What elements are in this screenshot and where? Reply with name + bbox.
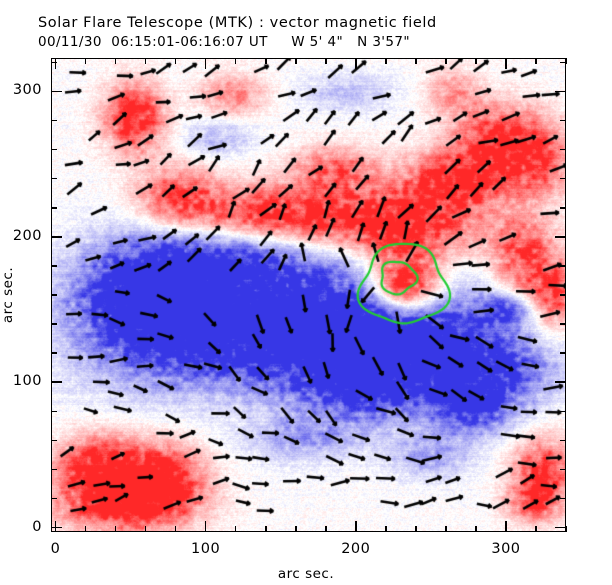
x-tick	[325, 526, 327, 532]
y-tick	[51, 498, 57, 500]
x-tick	[175, 526, 177, 532]
y-tick-right	[560, 62, 566, 64]
x-tick-label: 300	[484, 541, 528, 557]
y-tick-right	[560, 352, 566, 354]
figure-title: Solar Flare Telescope (MTK) : vector mag…	[38, 14, 578, 33]
y-tick	[51, 62, 57, 64]
y-tick-right	[560, 440, 566, 442]
x-tick-label: 200	[334, 541, 378, 557]
y-tick-right	[555, 91, 566, 93]
y-tick-right	[560, 120, 566, 122]
x-tick-top	[205, 58, 207, 69]
y-tick	[51, 440, 57, 442]
figure-subtitle: 00/11/30 06:15:01-06:16:07 UT W 5' 4" N …	[38, 33, 578, 52]
y-tick-right	[560, 498, 566, 500]
x-tick-top	[235, 58, 237, 64]
x-tick-top	[295, 58, 297, 64]
x-tick-top	[115, 58, 117, 64]
y-tick-label: 100	[0, 373, 42, 389]
y-tick-right	[560, 469, 566, 471]
y-tick	[51, 265, 57, 267]
y-tick	[51, 120, 57, 122]
y-tick	[51, 323, 57, 325]
x-tick-top	[445, 58, 447, 64]
x-tick-label: 100	[184, 541, 228, 557]
y-tick	[51, 294, 57, 296]
y-tick-right	[560, 207, 566, 209]
x-tick	[385, 526, 387, 532]
x-tick	[235, 526, 237, 532]
x-tick	[445, 526, 447, 532]
x-tick-top	[355, 58, 357, 69]
y-tick-right	[560, 265, 566, 267]
y-tick-right	[555, 381, 566, 383]
x-tick-top	[505, 58, 507, 69]
x-tick-top	[535, 58, 537, 64]
x-tick	[295, 526, 297, 532]
plot-area	[51, 58, 566, 532]
magnetogram-figure: Solar Flare Telescope (MTK) : vector mag…	[0, 0, 612, 585]
x-tick	[115, 526, 117, 532]
x-tick	[205, 521, 207, 532]
y-tick-right	[560, 178, 566, 180]
figure-title-block: Solar Flare Telescope (MTK) : vector mag…	[38, 14, 578, 52]
y-tick-label: 200	[0, 228, 42, 244]
y-tick	[51, 149, 57, 151]
y-tick-label: 0	[0, 519, 42, 535]
x-axis-label: arc sec.	[0, 566, 612, 582]
y-tick-right	[560, 294, 566, 296]
y-tick	[51, 178, 57, 180]
y-tick	[51, 352, 57, 354]
x-tick-top	[415, 58, 417, 64]
x-tick-label: 0	[34, 541, 78, 557]
x-tick	[505, 521, 507, 532]
x-tick-top	[55, 58, 57, 69]
x-tick	[415, 526, 417, 532]
x-tick-top	[385, 58, 387, 64]
vector-and-contour-overlay	[51, 58, 566, 532]
y-tick-right	[560, 411, 566, 413]
x-tick	[355, 521, 357, 532]
x-tick-top	[265, 58, 267, 64]
x-tick-top	[85, 58, 87, 64]
x-tick-top	[175, 58, 177, 64]
y-tick	[51, 91, 62, 93]
x-tick	[85, 526, 87, 532]
y-tick-right	[555, 236, 566, 238]
x-tick-top	[325, 58, 327, 64]
y-tick-right	[560, 323, 566, 325]
y-tick	[51, 469, 57, 471]
x-tick	[475, 526, 477, 532]
x-tick-top	[475, 58, 477, 64]
y-tick-right	[555, 527, 566, 529]
y-tick-label: 300	[0, 82, 42, 98]
y-tick	[51, 381, 62, 383]
y-tick	[51, 527, 62, 529]
y-tick-right	[560, 149, 566, 151]
y-tick	[51, 236, 62, 238]
y-axis-label: arc sec.	[0, 255, 16, 335]
x-tick	[535, 526, 537, 532]
x-tick	[145, 526, 147, 532]
x-tick	[265, 526, 267, 532]
y-tick	[51, 411, 57, 413]
y-tick	[51, 207, 57, 209]
x-tick-top	[145, 58, 147, 64]
